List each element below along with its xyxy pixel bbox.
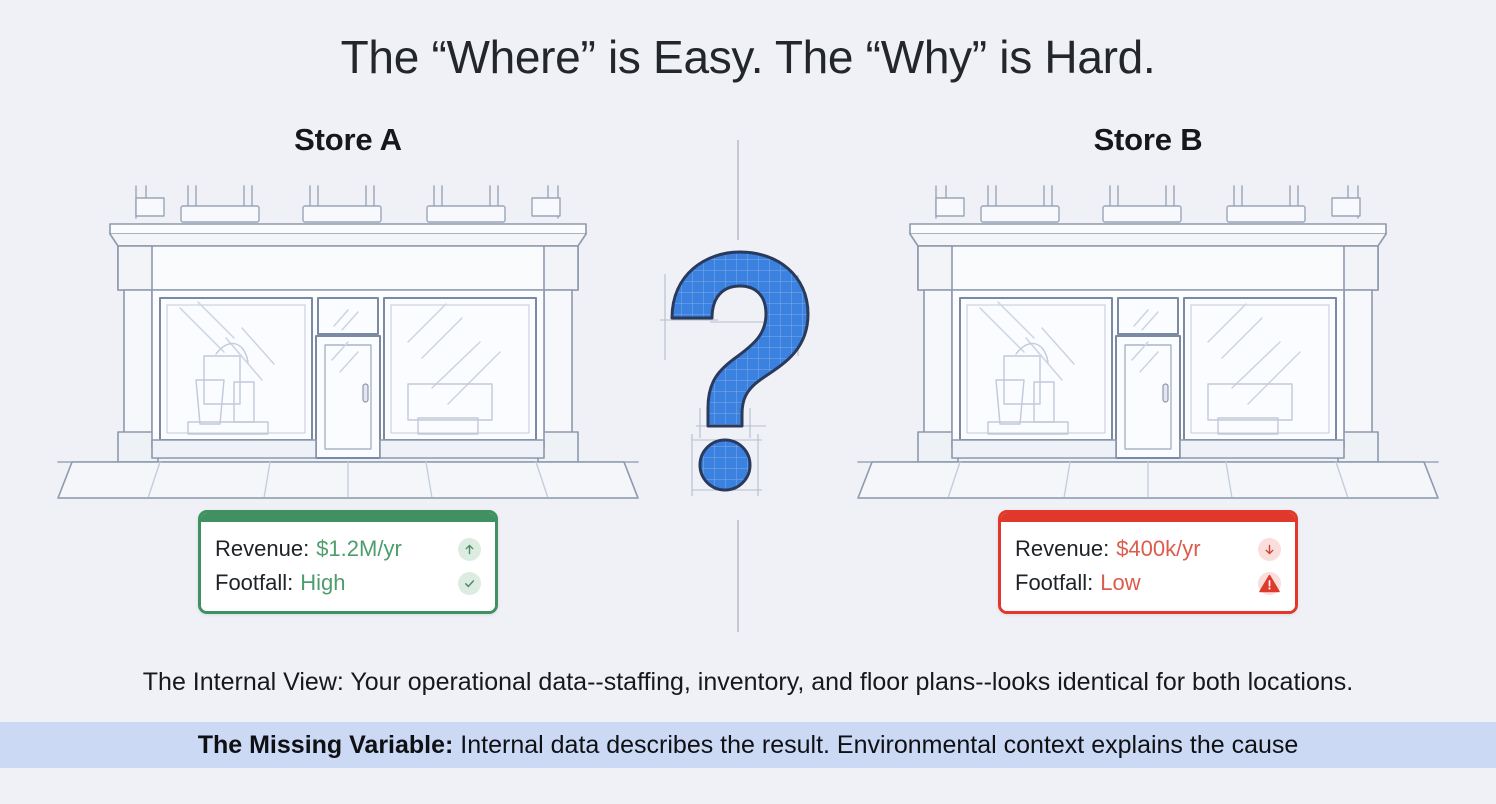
missing-variable-caption: The Missing Variable: Internal data desc… bbox=[198, 731, 1299, 760]
store-b-label: Store B bbox=[848, 118, 1448, 162]
page-title: The “Where” is Easy. The “Why” is Hard. bbox=[0, 30, 1496, 84]
metric-value: $1.2M/yr bbox=[316, 536, 402, 562]
question-mark-blueprint-icon bbox=[648, 248, 828, 498]
metric-label: Footfall: bbox=[1015, 570, 1093, 596]
card-accent-bar bbox=[201, 513, 495, 522]
metric-value: High bbox=[300, 570, 345, 596]
metric-row-revenue: Revenue: $1.2M/yr bbox=[215, 532, 481, 566]
store-panel-b: Store B bbox=[848, 118, 1448, 648]
card-body: Revenue: $1.2M/yr Footfall: High bbox=[201, 522, 495, 611]
internal-view-caption: The Internal View: Your operational data… bbox=[0, 668, 1496, 697]
metric-value: Low bbox=[1100, 570, 1140, 596]
vertical-divider-bottom bbox=[737, 520, 739, 632]
missing-variable-text: Internal data describes the result. Envi… bbox=[453, 731, 1298, 759]
store-panel-a: Store A bbox=[48, 118, 648, 648]
vertical-divider-top bbox=[737, 140, 739, 240]
arrow-up-icon bbox=[458, 538, 481, 561]
metric-row-revenue: Revenue: $400k/yr bbox=[1015, 532, 1281, 566]
missing-variable-label: The Missing Variable: bbox=[198, 731, 454, 759]
warning-triangle-icon bbox=[1258, 572, 1281, 595]
metric-row-footfall: Footfall: Low bbox=[1015, 566, 1281, 600]
store-a-label: Store A bbox=[48, 118, 648, 162]
store-b-metric-card: Revenue: $400k/yr Footfall: Low bbox=[998, 510, 1298, 614]
metric-value: $400k/yr bbox=[1116, 536, 1200, 562]
metric-label: Revenue: bbox=[215, 536, 309, 562]
check-circle-icon bbox=[458, 572, 481, 595]
storefront-illustration-b bbox=[848, 172, 1448, 507]
storefront-illustration-a bbox=[48, 172, 648, 507]
card-accent-bar bbox=[1001, 513, 1295, 522]
missing-variable-band: The Missing Variable: Internal data desc… bbox=[0, 722, 1496, 768]
slide-root: The “Where” is Easy. The “Why” is Hard. … bbox=[0, 0, 1496, 804]
metric-label: Footfall: bbox=[215, 570, 293, 596]
store-a-metric-card: Revenue: $1.2M/yr Footfall: High bbox=[198, 510, 498, 614]
metric-label: Revenue: bbox=[1015, 536, 1109, 562]
arrow-down-icon bbox=[1258, 538, 1281, 561]
card-body: Revenue: $400k/yr Footfall: Low bbox=[1001, 522, 1295, 611]
metric-row-footfall: Footfall: High bbox=[215, 566, 481, 600]
